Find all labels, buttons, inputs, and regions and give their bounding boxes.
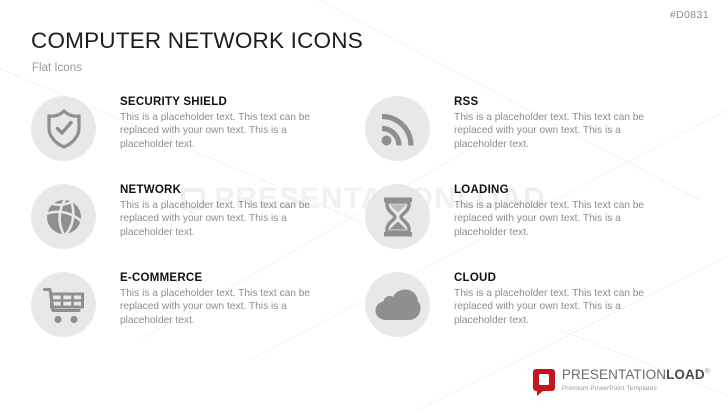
card-cloud[interactable]: CLOUD This is a placeholder text. This t… — [365, 269, 696, 357]
presentationload-logo: PRESENTATIONLOAD® Premium PowerPoint Tem… — [533, 367, 710, 392]
icon-circle — [365, 96, 430, 161]
logo-speech-bubble-icon — [533, 369, 555, 391]
card-body: LOADING This is a placeholder text. This… — [454, 181, 666, 239]
icon-circle — [31, 96, 96, 161]
card-network[interactable]: NETWORK This is a placeholder text. This… — [31, 181, 365, 269]
card-title: LOADING — [454, 184, 666, 196]
card-loading[interactable]: LOADING This is a placeholder text. This… — [365, 181, 696, 269]
card-title: NETWORK — [120, 184, 335, 196]
card-text: This is a placeholder text. This text ca… — [454, 111, 666, 151]
card-title: RSS — [454, 96, 666, 108]
card-body: E-COMMERCE This is a placeholder text. T… — [120, 269, 335, 327]
cloud-icon — [375, 289, 421, 321]
shield-check-icon — [45, 109, 83, 149]
rss-icon — [379, 110, 417, 148]
card-title: CLOUD — [454, 272, 666, 284]
card-text: This is a placeholder text. This text ca… — [454, 199, 666, 239]
card-body: SECURITY SHIELD This is a placeholder te… — [120, 93, 335, 151]
card-text: This is a placeholder text. This text ca… — [120, 199, 335, 239]
logo-wordmark: PRESENTATIONLOAD® Premium PowerPoint Tem… — [562, 367, 710, 392]
page-subtitle: Flat Icons — [32, 62, 82, 74]
card-body: NETWORK This is a placeholder text. This… — [120, 181, 335, 239]
logo-brand-name: PRESENTATIONLOAD® — [562, 367, 710, 382]
card-rss[interactable]: RSS This is a placeholder text. This tex… — [365, 93, 696, 181]
icon-circle — [365, 184, 430, 249]
icon-circle — [31, 184, 96, 249]
page-title: COMPUTER NETWORK ICONS — [31, 28, 363, 54]
card-text: This is a placeholder text. This text ca… — [120, 111, 335, 151]
network-globe-icon — [44, 197, 84, 237]
card-title: E-COMMERCE — [120, 272, 335, 284]
icon-cards-grid: SECURITY SHIELD This is a placeholder te… — [31, 93, 696, 357]
card-body: CLOUD This is a placeholder text. This t… — [454, 269, 666, 327]
card-title: SECURITY SHIELD — [120, 96, 335, 108]
hourglass-icon — [382, 197, 414, 237]
logo-tagline: Premium PowerPoint Templates — [562, 386, 710, 392]
icon-circle — [31, 272, 96, 337]
card-e-commerce[interactable]: E-COMMERCE This is a placeholder text. T… — [31, 269, 365, 357]
card-text: This is a placeholder text. This text ca… — [454, 287, 666, 327]
card-text: This is a placeholder text. This text ca… — [120, 287, 335, 327]
shopping-cart-icon — [43, 286, 85, 324]
icon-circle — [365, 272, 430, 337]
card-body: RSS This is a placeholder text. This tex… — [454, 93, 666, 151]
card-security-shield[interactable]: SECURITY SHIELD This is a placeholder te… — [31, 93, 365, 181]
document-id: #D0831 — [670, 9, 709, 21]
